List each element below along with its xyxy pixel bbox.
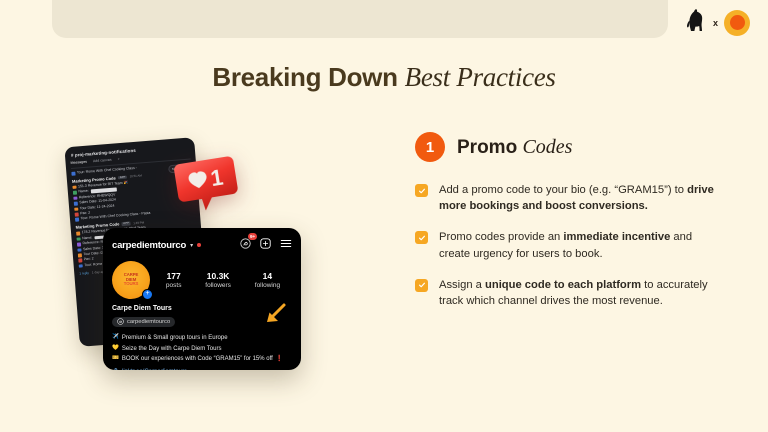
stat-number: 14 [255, 271, 280, 281]
slack-emoji-icon [76, 232, 80, 236]
brand-logo: x [685, 8, 750, 37]
bio-text: Seize the Day with Carpe Diem Tours [122, 344, 222, 355]
mockup-group: # proj-marketing-notifications Messages … [0, 120, 400, 400]
bio-emoji-icon: 🎫 [112, 354, 119, 364]
section-title-italic: Codes [522, 136, 572, 158]
stat-number: 10.3K [205, 271, 231, 281]
threads-badge-count: 9+ [248, 233, 257, 240]
instagram-bio-line: ✈️Premium & Small group tours in Europe [112, 333, 292, 344]
slack-timestamp: 10:51 AM [129, 174, 141, 179]
bullet-text: Add a promo code to your bio (e.g. “GRAM… [439, 182, 725, 214]
instagram-link-row[interactable]: linktr.ee/Carpediemtours [112, 367, 292, 371]
instagram-stat[interactable]: 177posts [166, 271, 182, 289]
chevron-down-icon[interactable]: ▾ [190, 242, 193, 249]
instagram-header: carpediemtourco ▾ 9+ [112, 236, 292, 254]
instagram-bio-line: 💛Seize the Day with Carpe Diem Tours [112, 344, 292, 355]
top-banner [52, 0, 668, 38]
slack-app-badge: APP [118, 175, 127, 179]
instagram-category-chip[interactable]: carpediemtourco [112, 317, 175, 327]
slack-app-badge: APP [122, 221, 131, 225]
slack-timestamp: 1:49 PM [133, 220, 144, 225]
dog-silhouette-icon [685, 8, 707, 37]
bio-text: BOOK our experiences with Code “GRAM15” … [122, 354, 273, 365]
instagram-category-label: carpediemtourco [127, 319, 170, 325]
slack-emoji-icon [75, 212, 79, 216]
content-panel: 1 Promo Codes Add a promo code to your b… [415, 132, 725, 324]
bullet-text: Promo codes provide an immediate incenti… [439, 229, 725, 261]
slack-emoji-icon [75, 218, 79, 222]
orange-circle-logo [724, 10, 750, 36]
instagram-bio-line: 🎫BOOK our experiences with Code “GRAM15”… [112, 354, 292, 365]
bio-exclamation-icon: ❗ [276, 354, 283, 365]
slack-emoji-icon [77, 248, 81, 252]
bullet-item: Assign a unique code to each platform to… [415, 277, 725, 309]
instagram-stats: 177posts10.3Kfollowers14following [154, 271, 292, 289]
link-icon [112, 367, 119, 371]
instagram-bio: ✈️Premium & Small group tours in Europe💛… [112, 333, 292, 365]
orange-circle-inner [730, 15, 745, 30]
slack-tab-add-canvas[interactable]: Add canvas [93, 158, 112, 163]
bio-text: Premium & Small group tours in Europe [122, 333, 228, 344]
slack-emoji-icon [73, 191, 77, 195]
instagram-profile-row: CARPE DIEM TOURS + 177posts10.3Kfollower… [112, 261, 292, 299]
slack-emoji-icon [78, 253, 82, 257]
checkbox-icon[interactable] [415, 184, 428, 197]
avatar-line3: TOURS [124, 282, 138, 286]
arrow-pointer-icon [261, 302, 287, 333]
status-dot-icon [197, 243, 201, 247]
slack-tab-add[interactable]: + [117, 157, 119, 161]
bio-emoji-icon: ✈️ [112, 333, 119, 343]
stat-label: following [255, 282, 280, 289]
page-title-bold: Breaking Down [212, 62, 397, 92]
slack-emoji-icon [77, 243, 81, 247]
slack-emoji-icon [76, 237, 80, 241]
slack-reply-count: 1 reply [79, 271, 89, 276]
bullet-list: Add a promo code to your bio (e.g. “GRAM… [415, 182, 725, 309]
slack-emoji-icon [79, 264, 83, 268]
plus-box-icon[interactable] [260, 236, 271, 254]
threads-chip-icon [117, 318, 124, 325]
bio-emoji-icon: 💛 [112, 344, 119, 354]
slack-emoji-icon [73, 196, 77, 200]
stat-label: followers [205, 282, 231, 289]
bullet-item: Promo codes provide an immediate incenti… [415, 229, 725, 261]
stat-label: posts [166, 282, 182, 289]
page-title-italic: Best Practices [405, 62, 556, 92]
instagram-username[interactable]: carpediemtourco [112, 240, 186, 251]
section-title: Promo Codes [457, 136, 572, 159]
hamburger-menu-icon[interactable] [280, 236, 292, 254]
slack-emoji-icon [72, 185, 76, 189]
section-title-bold: Promo [457, 137, 517, 158]
slack-tab-messages[interactable]: Messages [70, 160, 87, 165]
slack-emoji-icon [74, 202, 78, 206]
avatar-plus-icon[interactable]: + [142, 289, 153, 300]
avatar-wrapper: CARPE DIEM TOURS + [112, 261, 154, 299]
checkbox-icon[interactable] [415, 231, 428, 244]
instagram-header-icons: 9+ [240, 236, 292, 254]
section-header: 1 Promo Codes [415, 132, 725, 162]
brand-x-label: x [713, 18, 718, 28]
like-notification-badge: 1 [172, 152, 243, 221]
instagram-profile-card[interactable]: carpediemtourco ▾ 9+ [103, 228, 301, 370]
page-title: Breaking Down Best Practices [0, 62, 768, 93]
instagram-stat[interactable]: 10.3Kfollowers [205, 271, 231, 289]
checkbox-icon[interactable] [415, 279, 428, 292]
bullet-item: Add a promo code to your bio (e.g. “GRAM… [415, 182, 725, 214]
slack-emoji-icon [71, 172, 75, 176]
slack-emoji-icon [74, 207, 78, 211]
section-number-badge: 1 [415, 132, 445, 162]
instagram-stat[interactable]: 14following [255, 271, 280, 289]
instagram-link-text[interactable]: linktr.ee/Carpediemtours [122, 367, 187, 370]
bullet-text: Assign a unique code to each platform to… [439, 277, 725, 309]
stat-number: 177 [166, 271, 182, 281]
slack-emoji-icon [78, 259, 82, 263]
